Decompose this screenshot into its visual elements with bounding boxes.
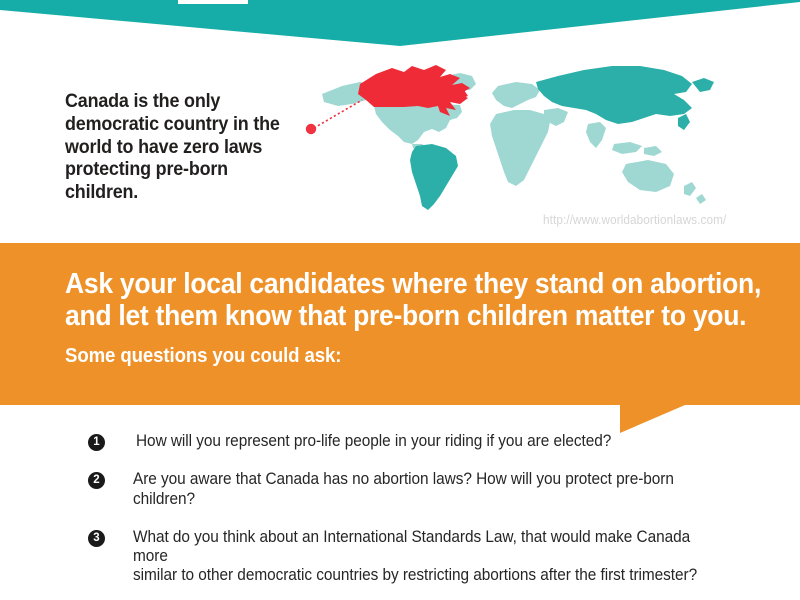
question-number-badge: 3 [88, 530, 105, 547]
statement-line-3: world to have zero laws [65, 136, 300, 159]
question-item: 2 Are you aware that Canada has no abort… [88, 470, 748, 509]
questions-list: 1 How will you represent pro-life people… [88, 432, 748, 600]
statement-line-4: protecting pre-born children. [65, 158, 300, 204]
cta-headline-line2: and let them know that pre-born children… [65, 300, 716, 332]
question-text: What do you think about an International… [133, 528, 717, 586]
question-text: Are you aware that Canada has no abortio… [133, 470, 717, 509]
map-pointer-dot [306, 124, 316, 134]
cta-headline-line1: Ask your local candidates where they sta… [65, 268, 716, 300]
question-item: 3 What do you think about an Internation… [88, 528, 748, 586]
question-text: How will you represent pro-life people i… [136, 432, 611, 451]
map-source-url: http://www.worldabortionlaws.com/ [543, 213, 726, 227]
statement-text: Canada is the only democratic country in… [65, 90, 300, 204]
infographic-page: Canada is the only democratic country in… [0, 0, 800, 600]
teal-chevron-banner [0, 0, 800, 46]
question-text-line: How will you represent pro-life people i… [136, 432, 611, 450]
question-item: 1 How will you represent pro-life people… [88, 432, 748, 451]
question-number-badge: 2 [88, 472, 105, 489]
statement-line-1: Canada is the only [65, 90, 300, 113]
question-text-line: What do you think about an International… [133, 528, 690, 565]
question-text-line: similar to other democratic countries by… [133, 566, 717, 585]
question-number-badge: 1 [88, 434, 105, 451]
cta-subhead: Some questions you could ask: [65, 345, 716, 368]
cta-band: Ask your local candidates where they sta… [0, 243, 800, 435]
world-map [300, 52, 770, 217]
statement-line-2: democratic country in the [65, 113, 300, 136]
question-text-line: Are you aware that Canada has no abortio… [133, 470, 674, 507]
